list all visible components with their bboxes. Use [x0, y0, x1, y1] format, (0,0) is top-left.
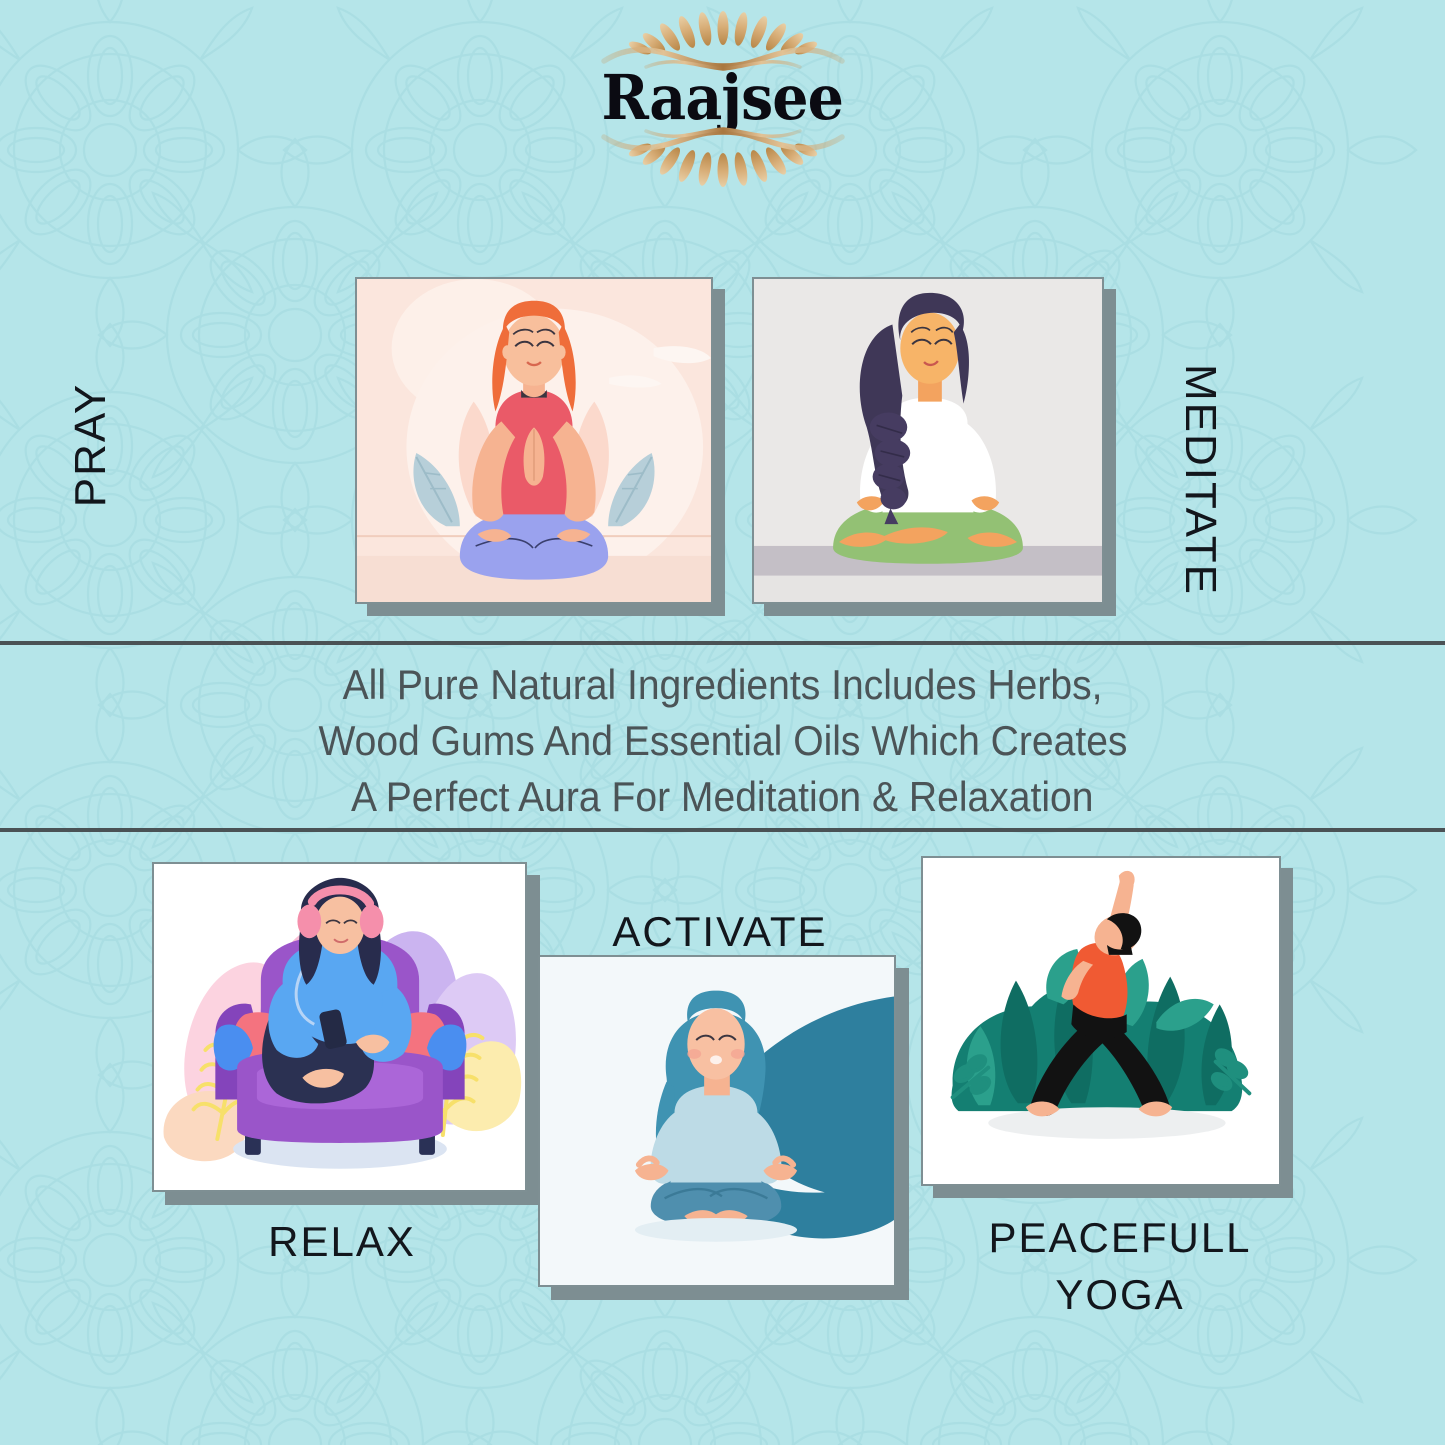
- relax-image-tile[interactable]: [152, 862, 527, 1192]
- meditate-image-tile[interactable]: [752, 277, 1104, 604]
- headline-line-1: All Pure Natural Ingredients Includes He…: [343, 657, 1103, 713]
- headline-block: All Pure Natural Ingredients Includes He…: [0, 655, 1445, 827]
- headline-line-2: Wood Gums And Essential Oils Which Creat…: [318, 713, 1127, 769]
- divider-top: [0, 641, 1445, 645]
- caption-yoga-line-1: PEACEFULL: [920, 1210, 1320, 1267]
- divider-bottom: [0, 828, 1445, 832]
- caption-pray: PRAY: [66, 345, 116, 545]
- yoga-image-tile[interactable]: [921, 856, 1281, 1186]
- headline-line-3: A Perfect Aura For Meditation & Relaxati…: [351, 769, 1094, 825]
- caption-relax: RELAX: [152, 1218, 532, 1266]
- activate-image-tile[interactable]: [538, 955, 896, 1287]
- caption-yoga-line-2: YOGA: [920, 1267, 1320, 1324]
- brand-logo: Raajsee: [0, 6, 1445, 192]
- caption-peacefull-yoga: PEACEFULL YOGA: [920, 1210, 1320, 1323]
- caption-activate: ACTIVATE: [530, 908, 910, 956]
- pray-image-tile[interactable]: [355, 277, 713, 604]
- caption-meditate: MEDITATE: [1175, 320, 1225, 640]
- brand-name: Raajsee: [602, 67, 844, 129]
- floral-flourish-down-icon: [598, 127, 848, 189]
